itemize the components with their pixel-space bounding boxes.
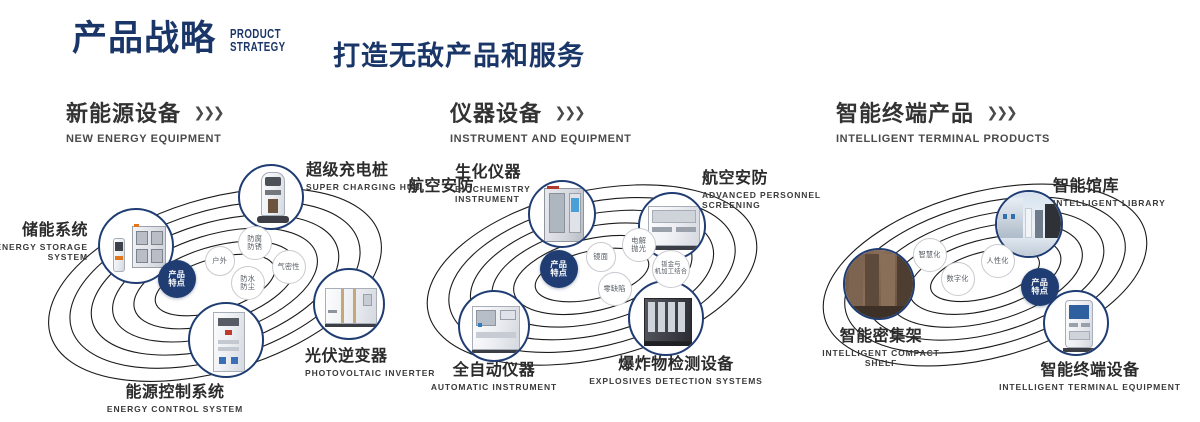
feature-bubble-electropolishing[interactable]: 电解 抛光 — [622, 228, 656, 262]
feature-bubble-sheetmetal[interactable]: 钣金与 机加工结合 — [652, 250, 690, 288]
product-circle-explosives-detector[interactable] — [628, 280, 704, 356]
section-title-cn: 新能源设备 — [66, 96, 181, 128]
control-cabinet-icon — [190, 304, 262, 376]
poster-stage: 产品战略 PRODUCT STRATEGY 打造无敌产品和服务 新能源设备 ❯❯… — [0, 0, 1200, 422]
product-label-compact-shelf: 智能密集架 INTELLIGENT COMPACT SHELF — [791, 322, 971, 368]
section-title-new-energy: 新能源设备 ❯❯❯ NEW ENERGY EQUIPMENT — [66, 96, 223, 145]
product-label-energy-control: 能源控制系统 ENERGY CONTROL SYSTEM — [75, 378, 275, 414]
product-circle-compact-shelf[interactable] — [843, 248, 915, 320]
section-title-en: INSTRUMENT AND EQUIPMENT — [450, 133, 631, 145]
section-title-en: NEW ENERGY EQUIPMENT — [66, 133, 223, 145]
feature-bubble-airtight[interactable]: 气密性 — [272, 250, 306, 284]
feature-bubble-core[interactable]: 产品 特点 — [158, 260, 196, 298]
section-title-en: INTELLIGENT TERMINAL PRODUCTS — [836, 133, 1050, 145]
product-circle-charging-hub[interactable] — [238, 164, 304, 230]
terminal-kiosk-icon — [1045, 292, 1107, 354]
product-label-automatic-instrument: 全自动仪器 AUTOMATIC INSTRUMENT — [414, 356, 574, 392]
feature-bubble-waterproof[interactable]: 防水 防尘 — [231, 266, 265, 300]
product-label-biochemistry: 生化仪器 BIOCHEMISTRY INSTRUMENT — [455, 158, 585, 204]
feature-bubble-mirror[interactable]: 镜面 — [586, 242, 616, 272]
charging-pile-icon — [240, 166, 302, 228]
feature-bubble-core[interactable]: 产品 特点 — [540, 250, 578, 288]
chevron-right-icon: ❯❯❯ — [193, 104, 222, 121]
product-label-terminal-kiosk: 智能终端设备 INTELLIGENT TERMINAL EQUIPMENT — [985, 356, 1195, 392]
section-title-cn: 仪器设备 — [450, 96, 542, 128]
feature-bubble-anticorrosion[interactable]: 防腐 防锈 — [238, 226, 272, 260]
feature-bubble-humanized[interactable]: 人性化 — [981, 244, 1015, 278]
product-circle-pv-inverter[interactable] — [313, 268, 385, 340]
feature-bubble-outdoor[interactable]: 户外 — [205, 246, 235, 276]
section-title-terminal: 智能终端产品 ❯❯❯ INTELLIGENT TERMINAL PRODUCTS — [836, 96, 1050, 145]
group-instrument: 航空安防 生化仪器 BIOCHEMISTRY INSTRUMENT — [400, 150, 800, 420]
page-header: 产品战略 PRODUCT STRATEGY — [72, 22, 301, 57]
product-circle-automatic-instrument[interactable] — [458, 290, 530, 362]
chevron-right-icon: ❯❯❯ — [986, 104, 1015, 121]
product-label-energy-storage: 储能系统 ENERGY STORAGE SYSTEM — [0, 216, 88, 262]
group-new-energy: 储能系统 ENERGY STORAGE SYSTEM 超级充电桩 SUPER C… — [10, 150, 410, 420]
automatic-instrument-icon — [460, 292, 528, 360]
compact-shelf-icon — [845, 250, 913, 318]
feature-bubble-core[interactable]: 产品 特点 — [1021, 268, 1059, 306]
section-title-instrument: 仪器设备 ❯❯❯ INSTRUMENT AND EQUIPMENT — [450, 96, 631, 145]
feature-bubble-digital[interactable]: 数字化 — [941, 262, 975, 296]
group-terminal: 智能馆库 INTELLIGENT LIBRARY 智能密集架 INTELLIGE… — [795, 150, 1195, 420]
product-circle-energy-control[interactable] — [188, 302, 264, 378]
feature-bubble-zero-defect[interactable]: 零缺陷 — [598, 272, 632, 306]
page-title-english: PRODUCT STRATEGY — [230, 28, 285, 57]
pv-inverter-icon — [315, 270, 383, 338]
chevron-right-icon: ❯❯❯ — [554, 104, 583, 121]
explosives-detector-icon — [630, 282, 702, 354]
product-label-explosives-detector: 爆炸物检测设备 EXPLOSIVES DETECTION SYSTEMS — [586, 350, 766, 386]
page-slogan: 打造无敌产品和服务 — [333, 34, 585, 73]
product-label-smart-library: 智能馆库 INTELLIGENT LIBRARY — [1053, 172, 1200, 208]
feature-bubble-intelligent[interactable]: 智慧化 — [913, 238, 947, 272]
section-title-cn: 智能终端产品 — [836, 96, 974, 128]
page-title: 产品战略 — [72, 22, 216, 57]
